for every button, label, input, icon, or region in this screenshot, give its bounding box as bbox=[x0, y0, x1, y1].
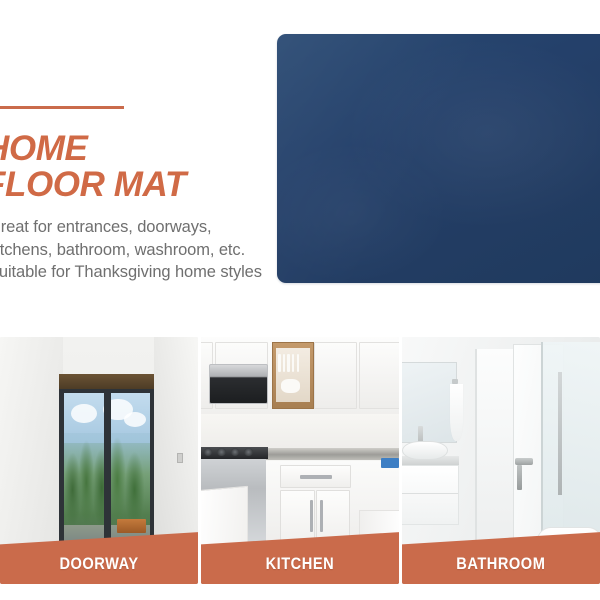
kitchen-dish bbox=[287, 354, 290, 372]
kitchen-shelf-interior bbox=[276, 348, 311, 402]
panel-label-doorway: DOORWAY bbox=[59, 554, 138, 574]
kitchen-microwave bbox=[209, 364, 268, 404]
kitchen-blue-accent bbox=[381, 458, 399, 468]
headline-line-1: HOME bbox=[0, 131, 284, 167]
doorway-bench bbox=[117, 519, 146, 533]
panel-label-kitchen: KITCHEN bbox=[266, 554, 335, 574]
bathroom-vanity-drawer-line bbox=[402, 493, 458, 494]
kitchen-dish bbox=[292, 354, 295, 372]
use-case-panel-bathroom: BATHROOM bbox=[402, 337, 600, 584]
panel-label-bathroom: BATHROOM bbox=[456, 554, 545, 574]
hero-section: HOME FLOOR MAT Great for entrances, door… bbox=[0, 0, 600, 337]
product-marketing-image: HOME FLOOR MAT Great for entrances, door… bbox=[0, 0, 600, 600]
bathroom-glass-shower-enclosure bbox=[541, 342, 600, 545]
page-title: HOME FLOOR MAT bbox=[0, 131, 284, 203]
bathroom-shower-bar bbox=[558, 372, 562, 496]
bathroom-towel bbox=[450, 384, 464, 441]
kitchen-burner bbox=[231, 448, 240, 456]
product-highlight-sheen bbox=[277, 34, 600, 283]
kitchen-dish bbox=[283, 354, 286, 372]
doorway-center-mullion bbox=[104, 393, 111, 562]
kitchen-upper-cabinet bbox=[314, 342, 358, 409]
bathroom-floating-vanity bbox=[402, 465, 459, 524]
doorway-cloud bbox=[71, 404, 97, 423]
kitchen-upper-cabinet bbox=[359, 342, 399, 409]
bathroom-door-handle bbox=[515, 458, 533, 465]
kitchen-dish bbox=[278, 354, 281, 372]
doorway-light-switch bbox=[177, 453, 183, 463]
headline-line-2: FLOOR MAT bbox=[0, 167, 284, 203]
accent-rule-divider bbox=[0, 106, 124, 109]
kitchen-dish bbox=[297, 354, 300, 372]
kitchen-burner bbox=[217, 448, 226, 456]
kitchen-cabinet-handle bbox=[310, 500, 313, 532]
use-case-panel-kitchen: KITCHEN bbox=[201, 337, 399, 584]
product-description-text: Great for entrances, doorways, kitchens,… bbox=[0, 216, 280, 284]
kitchen-bowl bbox=[281, 379, 301, 393]
kitchen-open-shelving bbox=[272, 342, 314, 409]
hero-copy-block: HOME FLOOR MAT Great for entrances, door… bbox=[0, 106, 284, 284]
product-image-floor-mat bbox=[277, 34, 600, 283]
bathroom-vessel-sink bbox=[402, 441, 448, 461]
use-case-panel-group: DOORWAY bbox=[0, 337, 600, 584]
kitchen-drawer-handle bbox=[300, 475, 332, 479]
bathroom-door-lock-plate bbox=[517, 465, 522, 490]
kitchen-burner bbox=[244, 448, 253, 456]
doorway-transom-beam bbox=[59, 374, 154, 389]
kitchen-cooktop bbox=[201, 447, 268, 459]
kitchen-burner bbox=[204, 448, 213, 456]
use-case-panel-doorway: DOORWAY bbox=[0, 337, 198, 584]
kitchen-cabinet-handle bbox=[320, 500, 323, 532]
kitchen-backsplash bbox=[201, 414, 399, 451]
doorway-cloud bbox=[124, 412, 146, 427]
